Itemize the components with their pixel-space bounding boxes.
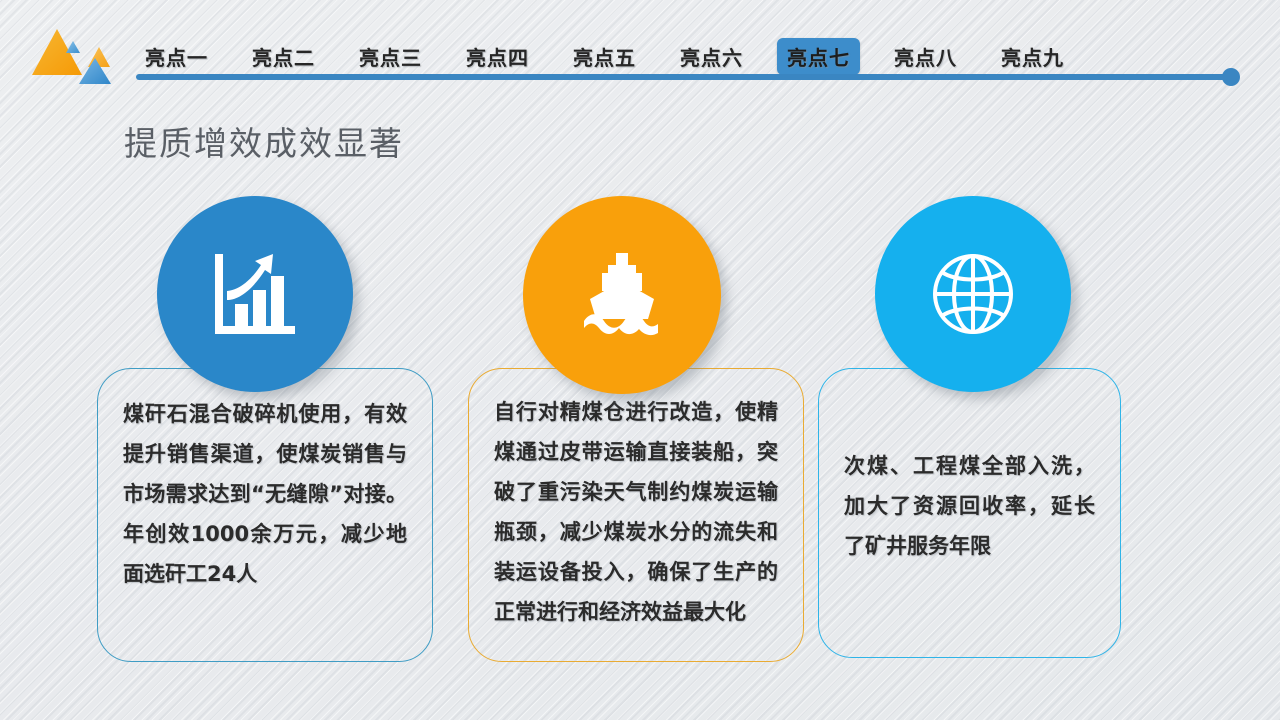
slide-root: 亮点一 亮点二 亮点三 亮点四 亮点五 亮点六 亮点七 亮点八 亮点九 提质增效… [0,0,1280,720]
nav-item-7-active[interactable]: 亮点七 [777,38,860,75]
nav-item-3[interactable]: 亮点三 [349,38,432,75]
mountain-triangles-logo [24,22,120,84]
nav-item-6[interactable]: 亮点六 [670,38,753,75]
bar-chart-growth-icon [157,196,353,392]
content-card-3-text: 次煤、工程煤全部入洗，加大了资源回收率，延长了矿井服务年限 [818,446,1121,566]
nav-item-4[interactable]: 亮点四 [456,38,539,75]
top-nav: 亮点一 亮点二 亮点三 亮点四 亮点五 亮点六 亮点七 亮点八 亮点九 [135,38,1235,74]
page-title: 提质增效成效显著 [124,117,404,165]
nav-underline-rule [136,74,1229,80]
nav-item-5[interactable]: 亮点五 [563,38,646,75]
ship-waves-icon [523,196,721,394]
nav-end-dot [1222,68,1240,86]
nav-item-9[interactable]: 亮点九 [991,38,1074,75]
content-card-2-text: 自行对精煤仓进行改造，使精煤通过皮带运输直接装船，突破了重污染天气制约煤炭运输瓶… [468,392,804,632]
nav-item-2[interactable]: 亮点二 [242,38,325,75]
nav-item-1[interactable]: 亮点一 [135,38,218,75]
content-card-1-text: 煤矸石混合破碎机使用，有效提升销售渠道，使煤炭销售与市场需求达到“无缝隙”对接。… [97,394,433,594]
nav-item-8[interactable]: 亮点八 [884,38,967,75]
globe-icon [875,196,1071,392]
